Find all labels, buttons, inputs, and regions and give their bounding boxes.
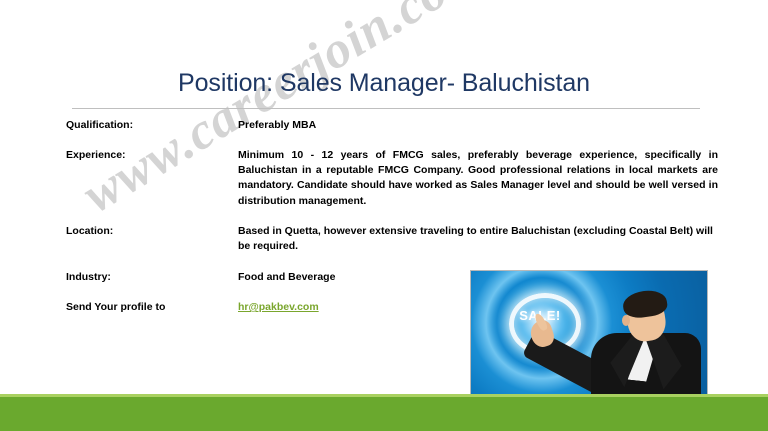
- detail-label-send-profile: Send Your profile to: [66, 300, 236, 315]
- email-link[interactable]: hr@pakbev.com: [238, 301, 319, 313]
- detail-row-location: Location: Based in Quetta, however exten…: [0, 224, 768, 270]
- title-divider: [72, 108, 700, 109]
- job-posting-slide: www.careerjoin.com Position: Sales Manag…: [0, 0, 768, 431]
- detail-label-experience: Experience:: [66, 148, 236, 163]
- detail-row-qualification: Qualification: Preferably MBA: [0, 118, 768, 148]
- detail-value-experience: Minimum 10 - 12 years of FMCG sales, pre…: [238, 148, 718, 209]
- sale-photo: SALE!: [470, 270, 708, 395]
- detail-row-experience: Experience: Minimum 10 - 12 years of FMC…: [0, 148, 768, 224]
- detail-label-qualification: Qualification:: [66, 118, 236, 133]
- detail-value-location: Based in Quetta, however extensive trave…: [238, 224, 713, 254]
- ear-shape: [622, 315, 630, 326]
- detail-label-location: Location:: [66, 224, 236, 239]
- detail-label-industry: Industry:: [66, 270, 236, 285]
- footer-band: [0, 397, 768, 431]
- detail-value-qualification: Preferably MBA: [238, 118, 538, 133]
- page-title: Position: Sales Manager- Baluchistan: [0, 70, 768, 98]
